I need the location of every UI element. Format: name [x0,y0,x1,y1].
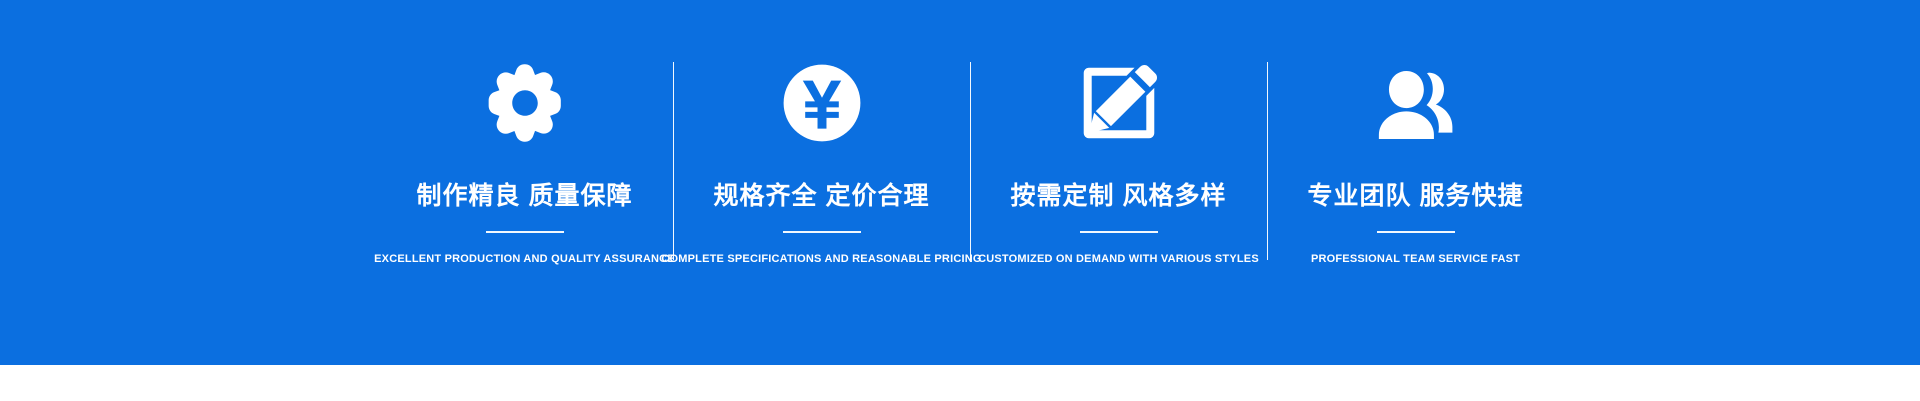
feature-subline: EXCELLENT PRODUCTION AND QUALITY ASSURAN… [374,254,675,265]
users-icon [1370,53,1462,153]
yen-coin-icon [782,53,862,153]
feature-divider-rule [1377,231,1455,233]
feature-headline: 专业团队 服务快捷 [1308,184,1524,209]
feature-divider-rule [486,231,564,233]
feature-divider-rule [1080,231,1158,233]
edit-pencil-icon [1077,53,1161,153]
feature-divider-rule [783,231,861,233]
feature-list: 制作精良 质量保障 EXCELLENT PRODUCTION AND QUALI… [375,0,1565,365]
feature-item-team[interactable]: 专业团队 服务快捷 PROFESSIONAL TEAM SERVICE FAST [1267,0,1564,365]
feature-headline: 按需定制 风格多样 [1011,184,1227,209]
gear-icon [481,53,569,153]
feature-headline: 制作精良 质量保障 [417,184,633,209]
feature-subline: CUSTOMIZED ON DEMAND WITH VARIOUS STYLES [978,254,1259,265]
feature-item-pricing[interactable]: 规格齐全 定价合理 COMPLETE SPECIFICATIONS AND RE… [673,0,970,365]
feature-subline: PROFESSIONAL TEAM SERVICE FAST [1311,254,1520,265]
feature-headline: 规格齐全 定价合理 [714,184,930,209]
feature-item-quality[interactable]: 制作精良 质量保障 EXCELLENT PRODUCTION AND QUALI… [376,0,673,365]
feature-subline: COMPLETE SPECIFICATIONS AND REASONABLE P… [661,254,981,265]
feature-item-customization[interactable]: 按需定制 风格多样 CUSTOMIZED ON DEMAND WITH VARI… [970,0,1267,365]
page-bottom-strip [0,365,1920,401]
feature-banner: 制作精良 质量保障 EXCELLENT PRODUCTION AND QUALI… [0,0,1920,365]
